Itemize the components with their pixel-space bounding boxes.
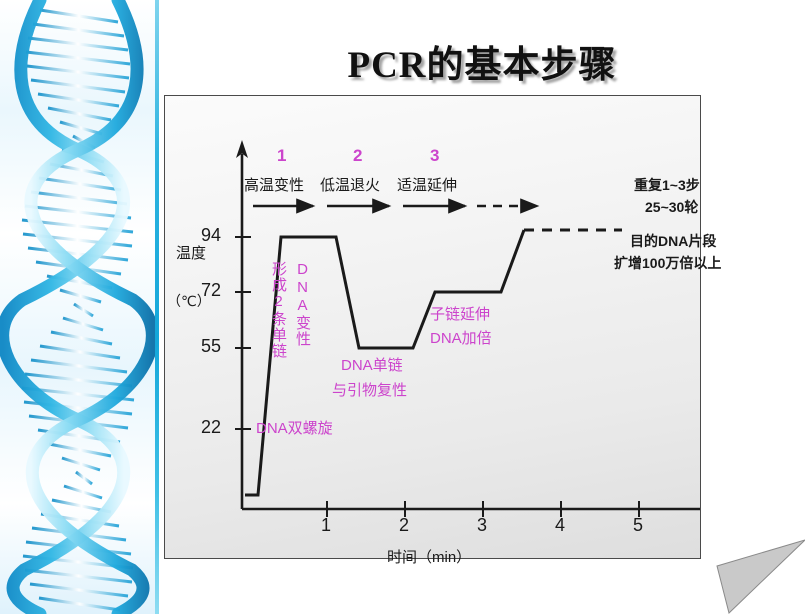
slide-canvas: PCR的基本步骤 xyxy=(0,0,805,614)
extend-label-line1: 子链延伸 xyxy=(430,303,490,324)
pcr-chart-frame: 温度 （℃） 94 72 55 22 1 2 3 4 5 1 2 3 高温变性 … xyxy=(164,95,701,559)
slide-content: PCR的基本步骤 xyxy=(159,0,805,614)
y-tick-label-22: 22 xyxy=(201,417,221,438)
curve-start-label: DNA双螺旋 xyxy=(256,417,333,438)
y-tick-label-94: 94 xyxy=(201,225,221,246)
y-axis-title: 温度 xyxy=(176,244,200,263)
dna-helix-icon xyxy=(0,0,157,614)
y-tick-label-72: 72 xyxy=(201,280,221,301)
y-tick-label-55: 55 xyxy=(201,336,221,357)
x-tick-label-3: 3 xyxy=(477,515,487,536)
step-2-label: 低温退火 xyxy=(320,174,380,195)
anneal-label-line2: 与引物复性 xyxy=(332,379,407,400)
step-3-number: 3 xyxy=(430,146,439,166)
anneal-label-line1: DNA单链 xyxy=(341,354,403,375)
page-title: PCR的基本步骤 xyxy=(159,34,805,86)
dna-helix-image xyxy=(0,0,157,614)
result-note-line1: 目的DNA片段 xyxy=(630,231,716,251)
x-tick-label-1: 1 xyxy=(321,515,331,536)
step-1-number: 1 xyxy=(277,146,286,166)
x-axis-title: 时间（min） xyxy=(387,546,471,567)
extend-label-line2: DNA加倍 xyxy=(430,327,492,348)
step-3-label: 适温延伸 xyxy=(397,174,457,195)
result-note-line2: 扩增100万倍以上 xyxy=(614,253,721,273)
x-tick-label-5: 5 xyxy=(633,515,643,536)
step-1-label: 高温变性 xyxy=(244,174,304,195)
step-2-number: 2 xyxy=(353,146,362,166)
repeat-note-line2: 25~30轮 xyxy=(645,197,698,217)
x-tick-label-2: 2 xyxy=(399,515,409,536)
denature-label-name: DNA变性 xyxy=(292,261,313,347)
denature-label-strands: 形成2条单链 xyxy=(268,261,289,359)
repeat-note-line1: 重复1~3步 xyxy=(634,175,700,195)
x-tick-label-4: 4 xyxy=(555,515,565,536)
